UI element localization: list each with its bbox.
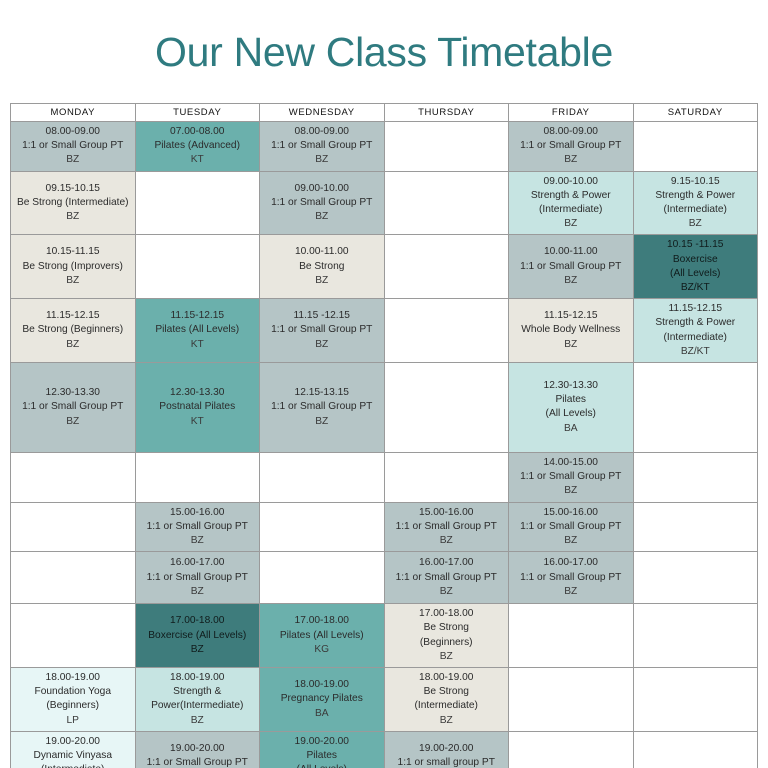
class-name: Be Strong (Improvers): [13, 260, 133, 274]
class-slot[interactable]: 18.00-19.00Foundation Yoga(Beginners)LP: [11, 668, 136, 732]
class-time: 10.00-11.00: [511, 245, 631, 259]
class-slot-empty: [633, 668, 758, 732]
class-time: 18.00-19.00: [13, 671, 133, 685]
class-slot-empty: [384, 299, 509, 363]
class-time: 09.00-10.00: [262, 182, 382, 196]
class-name: 1:1 or Small Group PT: [138, 756, 258, 768]
class-time: 09.00-10.00: [511, 175, 631, 189]
class-time: 19.00-20.00: [387, 742, 507, 756]
class-instructor: BZ: [262, 274, 382, 288]
class-slot-empty: [11, 604, 136, 668]
class-slot[interactable]: 07.00-08.00Pilates (Advanced)KT: [135, 121, 260, 171]
column-header-saturday: SATURDAY: [633, 103, 758, 121]
class-instructor: BZ: [387, 534, 507, 548]
class-time: 08.00-09.00: [262, 125, 382, 139]
class-slot-empty: [135, 452, 260, 502]
timetable-row: 17.00-18.00Boxercise (All Levels)BZ17.00…: [11, 604, 758, 668]
class-slot[interactable]: 17.00-18.00Pilates (All Levels)KG: [260, 604, 385, 668]
class-slot[interactable]: 15.00-16.001:1 or Small Group PTBZ: [509, 502, 634, 552]
class-name: (Intermediate): [13, 763, 133, 768]
class-time: 9.15-10.15: [636, 175, 756, 189]
class-timetable: MONDAYTUESDAYWEDNESDAYTHURSDAYFRIDAYSATU…: [10, 103, 758, 768]
class-instructor: BZ: [511, 217, 631, 231]
class-name: (All Levels): [511, 407, 631, 421]
class-instructor: BZ: [511, 338, 631, 352]
class-slot[interactable]: 19.00-20.001:1 or small group PTBZ: [384, 731, 509, 768]
timetable-row: 08.00-09.001:1 or Small Group PTBZ07.00-…: [11, 121, 758, 171]
class-slot[interactable]: 10.00-11.001:1 or Small Group PTBZ: [509, 235, 634, 299]
class-slot-empty: [260, 452, 385, 502]
class-instructor: BZ: [262, 338, 382, 352]
class-name: 1:1 or Small Group PT: [138, 520, 258, 534]
class-instructor: KT: [138, 338, 258, 352]
class-slot[interactable]: 10.15-11.15Be Strong (Improvers)BZ: [11, 235, 136, 299]
class-time: 08.00-09.00: [511, 125, 631, 139]
class-time: 19.00-20.00: [13, 735, 133, 749]
class-name: Strength & Power: [511, 189, 631, 203]
class-instructor: BZ: [387, 585, 507, 599]
class-slot-empty: [384, 171, 509, 235]
class-instructor: BZ: [13, 210, 133, 224]
page-title: Our New Class Timetable: [0, 27, 768, 75]
class-instructor: BZ: [511, 534, 631, 548]
timetable-body: 08.00-09.001:1 or Small Group PTBZ07.00-…: [11, 121, 758, 768]
class-slot[interactable]: 9.15-10.15Strength & Power(Intermediate)…: [633, 171, 758, 235]
class-time: 14.00-15.00: [511, 456, 631, 470]
class-time: 10.15-11.15: [13, 245, 133, 259]
class-time: 16.00-17.00: [138, 556, 258, 570]
class-slot[interactable]: 10.00-11.00Be StrongBZ: [260, 235, 385, 299]
class-slot[interactable]: 09.00-10.001:1 or Small Group PTBZ: [260, 171, 385, 235]
class-slot[interactable]: 09.00-10.00Strength & Power(Intermediate…: [509, 171, 634, 235]
class-instructor: BZ: [511, 153, 631, 167]
class-time: 12.30-13.30: [13, 386, 133, 400]
class-name: (Beginners): [387, 636, 507, 650]
column-header-wednesday: WEDNESDAY: [260, 103, 385, 121]
timetable-row: 09.15-10.15Be Strong (Intermediate)BZ09.…: [11, 171, 758, 235]
class-name: (Intermediate): [387, 699, 507, 713]
class-time: 08.00-09.00: [13, 125, 133, 139]
class-name: 1:1 or Small Group PT: [138, 571, 258, 585]
class-time: 11.15-12.15: [636, 302, 756, 316]
class-time: 18.00-19.00: [138, 671, 258, 685]
column-header-friday: FRIDAY: [509, 103, 634, 121]
class-slot-empty: [260, 552, 385, 604]
class-slot-empty: [509, 668, 634, 732]
class-time: 18.00-19.00: [387, 671, 507, 685]
class-time: 11.15-12.15: [511, 309, 631, 323]
class-slot[interactable]: 19.00-20.00Dynamic Vinyasa(Intermediate)…: [11, 731, 136, 768]
class-instructor: BZ: [387, 714, 507, 728]
class-name: Be Strong (Beginners): [13, 323, 133, 337]
class-time: 12.15-13.15: [262, 386, 382, 400]
class-name: Pilates: [511, 393, 631, 407]
column-header-tuesday: TUESDAY: [135, 103, 260, 121]
class-slot[interactable]: 19.00-20.00Pilates(All Levels)BA: [260, 731, 385, 768]
class-time: 11.15-12.15: [138, 309, 258, 323]
class-slot[interactable]: 12.30-13.301:1 or Small Group PTBZ: [11, 362, 136, 452]
column-header-monday: MONDAY: [11, 103, 136, 121]
header-row: MONDAYTUESDAYWEDNESDAYTHURSDAYFRIDAYSATU…: [11, 103, 758, 121]
timetable-page: Our New Class Timetable MONDAYTUESDAYWED…: [0, 27, 768, 768]
class-time: 09.15-10.15: [13, 182, 133, 196]
class-time: 07.00-08.00: [138, 125, 258, 139]
class-instructor: BZ: [636, 217, 756, 231]
class-instructor: BZ: [138, 534, 258, 548]
class-slot-empty: [135, 235, 260, 299]
class-time: 11.15 -12.15: [262, 309, 382, 323]
class-slot[interactable]: 11.15 -12.151:1 or Small Group PTBZ: [260, 299, 385, 363]
timetable-row: 12.30-13.301:1 or Small Group PTBZ12.30-…: [11, 362, 758, 452]
class-slot[interactable]: 18.00-19.00Pregnancy PilatesBA: [260, 668, 385, 732]
class-slot-empty: [384, 235, 509, 299]
class-instructor: BZ: [138, 585, 258, 599]
class-slot-empty: [633, 731, 758, 768]
class-slot-empty: [384, 362, 509, 452]
class-name: Pilates: [262, 749, 382, 763]
class-name: 1:1 or Small Group PT: [511, 139, 631, 153]
class-time: 19.00-20.00: [262, 735, 382, 749]
class-instructor: BA: [262, 707, 382, 721]
timetable-header: MONDAYTUESDAYWEDNESDAYTHURSDAYFRIDAYSATU…: [11, 103, 758, 121]
class-time: 16.00-17.00: [387, 556, 507, 570]
class-name: (Intermediate): [636, 331, 756, 345]
class-time: 16.00-17.00: [511, 556, 631, 570]
class-instructor: BZ: [262, 415, 382, 429]
class-instructor: BZ/KT: [636, 345, 756, 359]
class-slot[interactable]: 08.00-09.001:1 or Small Group PTBZ: [11, 121, 136, 171]
class-instructor: BZ: [13, 274, 133, 288]
class-time: 17.00-18.00: [138, 614, 258, 628]
class-name: Be Strong: [387, 685, 507, 699]
class-name: 1:1 or Small Group PT: [262, 400, 382, 414]
class-name: Pregnancy Pilates: [262, 692, 382, 706]
class-slot[interactable]: 08.00-09.001:1 or Small Group PTBZ: [509, 121, 634, 171]
class-time: 10.15 -11.15: [636, 238, 756, 252]
class-slot[interactable]: 19.00-20.001:1 or Small Group PTBZ: [135, 731, 260, 768]
class-instructor: BZ: [262, 210, 382, 224]
class-name: 1:1 or Small Group PT: [262, 139, 382, 153]
class-instructor: KT: [138, 415, 258, 429]
class-slot-empty: [509, 604, 634, 668]
class-instructor: BZ: [511, 274, 631, 288]
class-time: 18.00-19.00: [262, 678, 382, 692]
class-name: (Intermediate): [636, 203, 756, 217]
class-slot[interactable]: 11.15-12.15Strength & Power(Intermediate…: [633, 299, 758, 363]
class-time: 12.30-13.30: [138, 386, 258, 400]
class-name: Be Strong: [262, 260, 382, 274]
class-name: Boxercise (All Levels): [138, 629, 258, 643]
timetable-grid-wrapper: MONDAYTUESDAYWEDNESDAYTHURSDAYFRIDAYSATU…: [10, 103, 758, 768]
class-slot[interactable]: 09.15-10.15Be Strong (Intermediate)BZ: [11, 171, 136, 235]
timetable-row: 11.15-12.15Be Strong (Beginners)BZ11.15-…: [11, 299, 758, 363]
class-instructor: BZ: [13, 338, 133, 352]
class-name: 1:1 or Small Group PT: [511, 520, 631, 534]
class-slot-empty: [384, 121, 509, 171]
timetable-row: 10.15-11.15Be Strong (Improvers)BZ10.00-…: [11, 235, 758, 299]
class-instructor: BZ: [262, 153, 382, 167]
class-instructor: BZ: [511, 585, 631, 599]
class-name: Pilates (Advanced): [138, 139, 258, 153]
class-name: 1:1 or Small Group PT: [13, 139, 133, 153]
class-slot[interactable]: 18.00-19.00Be Strong(Intermediate)BZ: [384, 668, 509, 732]
class-instructor: BZ/KT: [636, 281, 756, 295]
timetable-row: 18.00-19.00Foundation Yoga(Beginners)LP1…: [11, 668, 758, 732]
timetable-row: 19.00-20.00Dynamic Vinyasa(Intermediate)…: [11, 731, 758, 768]
class-slot[interactable]: 11.15-12.15Whole Body WellnessBZ: [509, 299, 634, 363]
class-name: Whole Body Wellness: [511, 323, 631, 337]
timetable-row: 16.00-17.001:1 or Small Group PTBZ16.00-…: [11, 552, 758, 604]
class-instructor: BZ: [511, 484, 631, 498]
class-slot[interactable]: 12.30-13.30Pilates(All Levels)BA: [509, 362, 634, 452]
class-slot-empty: [11, 502, 136, 552]
class-name: Be Strong: [387, 621, 507, 635]
class-slot[interactable]: 15.00-16.001:1 or Small Group PTBZ: [135, 502, 260, 552]
class-slot[interactable]: 11.15-12.15Be Strong (Beginners)BZ: [11, 299, 136, 363]
class-name: Dynamic Vinyasa: [13, 749, 133, 763]
class-name: Strength & Power: [636, 189, 756, 203]
class-name: Pilates (All Levels): [138, 323, 258, 337]
class-time: 10.00-11.00: [262, 245, 382, 259]
class-slot[interactable]: 16.00-17.001:1 or Small Group PTBZ: [384, 552, 509, 604]
class-time: 15.00-16.00: [138, 506, 258, 520]
class-time: 19.00-20.00: [138, 742, 258, 756]
class-name: Power(Intermediate): [138, 699, 258, 713]
class-name: Boxercise: [636, 253, 756, 267]
class-slot-empty: [633, 552, 758, 604]
class-slot[interactable]: 16.00-17.001:1 or Small Group PTBZ: [509, 552, 634, 604]
timetable-row: 14.00-15.001:1 or Small Group PTBZ: [11, 452, 758, 502]
class-name: Pilates (All Levels): [262, 629, 382, 643]
class-instructor: BZ: [138, 643, 258, 657]
class-name: (All Levels): [636, 267, 756, 281]
class-slot[interactable]: 17.00-18.00Boxercise (All Levels)BZ: [135, 604, 260, 668]
class-slot[interactable]: 15.00-16.001:1 or Small Group PTBZ: [384, 502, 509, 552]
class-slot[interactable]: 12.30-13.30Postnatal PilatesKT: [135, 362, 260, 452]
class-name: (All Levels): [262, 763, 382, 768]
class-time: 15.00-16.00: [387, 506, 507, 520]
class-name: 1:1 or Small Group PT: [262, 196, 382, 210]
class-slot-empty: [11, 552, 136, 604]
class-name: Strength & Power: [636, 316, 756, 330]
class-name: 1:1 or Small Group PT: [511, 470, 631, 484]
class-name: 1:1 or Small Group PT: [13, 400, 133, 414]
class-instructor: BA: [511, 422, 631, 436]
class-slot[interactable]: 10.15 -11.15Boxercise(All Levels)BZ/KT: [633, 235, 758, 299]
class-time: 12.30-13.30: [511, 379, 631, 393]
class-name: 1:1 or small group PT: [387, 756, 507, 768]
class-time: 17.00-18.00: [387, 607, 507, 621]
class-name: Foundation Yoga: [13, 685, 133, 699]
class-slot-empty: [633, 502, 758, 552]
class-instructor: KG: [262, 643, 382, 657]
class-instructor: BZ: [13, 415, 133, 429]
class-name: 1:1 or Small Group PT: [387, 571, 507, 585]
class-slot-empty: [633, 452, 758, 502]
class-instructor: LP: [13, 714, 133, 728]
class-slot-empty: [384, 452, 509, 502]
class-slot-empty: [11, 452, 136, 502]
class-slot-empty: [135, 171, 260, 235]
timetable-row: 15.00-16.001:1 or Small Group PTBZ15.00-…: [11, 502, 758, 552]
class-slot[interactable]: 11.15-12.15Pilates (All Levels)KT: [135, 299, 260, 363]
class-time: 11.15-12.15: [13, 309, 133, 323]
class-slot[interactable]: 14.00-15.001:1 or Small Group PTBZ: [509, 452, 634, 502]
class-slot[interactable]: 16.00-17.001:1 or Small Group PTBZ: [135, 552, 260, 604]
class-instructor: BZ: [387, 650, 507, 664]
class-name: 1:1 or Small Group PT: [262, 323, 382, 337]
class-slot[interactable]: 12.15-13.151:1 or Small Group PTBZ: [260, 362, 385, 452]
class-slot-empty: [633, 604, 758, 668]
class-name: 1:1 or Small Group PT: [511, 260, 631, 274]
class-slot[interactable]: 08.00-09.001:1 or Small Group PTBZ: [260, 121, 385, 171]
class-slot[interactable]: 17.00-18.00Be Strong(Beginners)BZ: [384, 604, 509, 668]
class-time: 15.00-16.00: [511, 506, 631, 520]
class-instructor: KT: [138, 153, 258, 167]
class-slot-empty: [509, 731, 634, 768]
class-name: Strength &: [138, 685, 258, 699]
class-name: 1:1 or Small Group PT: [387, 520, 507, 534]
class-name: Postnatal Pilates: [138, 400, 258, 414]
class-slot-empty: [260, 502, 385, 552]
class-slot-empty: [633, 362, 758, 452]
class-time: 17.00-18.00: [262, 614, 382, 628]
class-slot[interactable]: 18.00-19.00Strength &Power(Intermediate)…: [135, 668, 260, 732]
column-header-thursday: THURSDAY: [384, 103, 509, 121]
class-name: (Beginners): [13, 699, 133, 713]
class-name: Be Strong (Intermediate): [13, 196, 133, 210]
class-name: 1:1 or Small Group PT: [511, 571, 631, 585]
class-name: (Intermediate): [511, 203, 631, 217]
class-instructor: BZ: [138, 714, 258, 728]
class-slot-empty: [633, 121, 758, 171]
class-instructor: BZ: [13, 153, 133, 167]
